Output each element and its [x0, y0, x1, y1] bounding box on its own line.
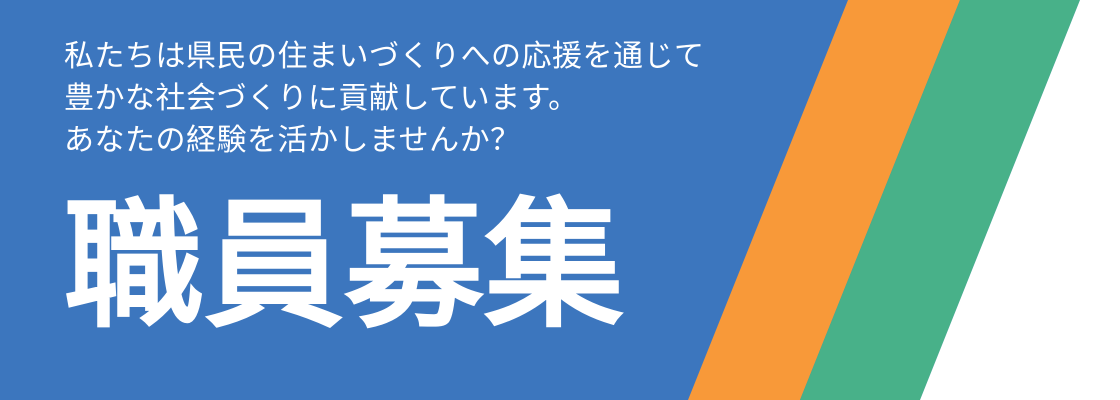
- message-line-2: 豊かな社会づくりに貢献しています。: [64, 78, 705, 120]
- message-line-3: あなたの経験を活かしませんか？: [64, 120, 705, 162]
- recruitment-banner: 私たちは県民の住まいづくりへの応援を通じて 豊かな社会づくりに貢献しています。 …: [0, 0, 1120, 400]
- banner-content: 私たちは県民の住まいづくりへの応援を通じて 豊かな社会づくりに貢献しています。 …: [0, 0, 1120, 400]
- headline-title: 職員募集: [64, 197, 624, 337]
- message-line-1: 私たちは県民の住まいづくりへの応援を通じて: [64, 36, 705, 78]
- message-block: 私たちは県民の住まいづくりへの応援を通じて 豊かな社会づくりに貢献しています。 …: [64, 36, 705, 162]
